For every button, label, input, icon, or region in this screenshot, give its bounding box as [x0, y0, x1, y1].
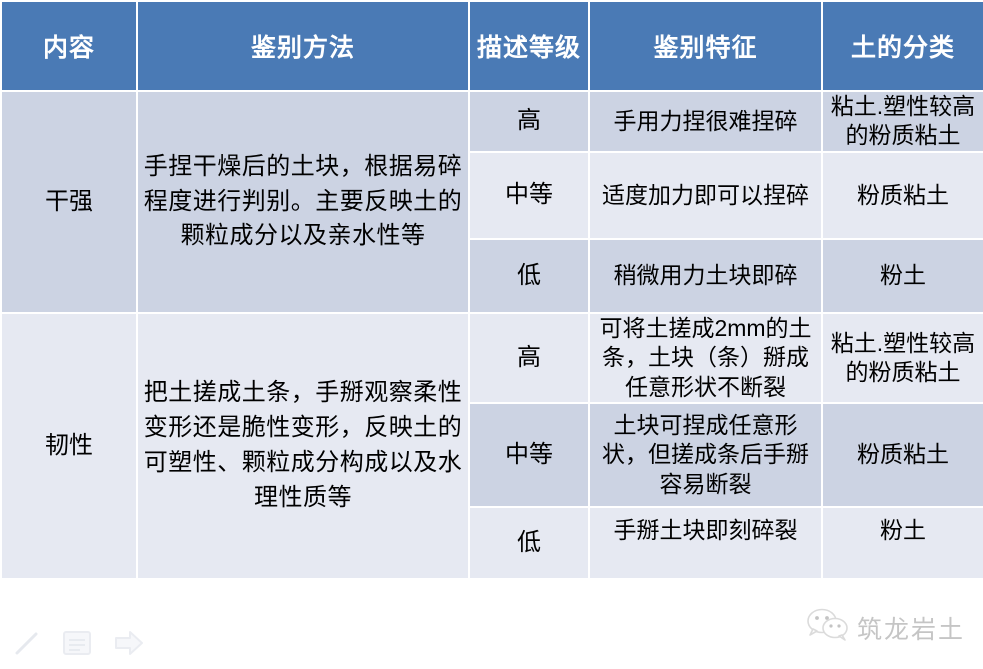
cell-feature-text: 可将土搓成2mm的土条，土块（条）掰成任意形状不断裂: [599, 315, 811, 400]
cell-feature: 稍微用力土块即碎: [589, 239, 822, 313]
header-cell-feature: 鉴别特征: [589, 1, 822, 91]
cell-level: 高: [469, 91, 589, 152]
cell-classify: 粉土: [822, 239, 983, 313]
table-header: 内容 鉴别方法 描述等级 鉴别特征 土的分类: [1, 1, 983, 91]
cell-feature: 适度加力即可以捏碎: [589, 152, 822, 239]
header-row: 内容 鉴别方法 描述等级 鉴别特征 土的分类: [1, 1, 983, 91]
tool-icons-watermark: [14, 630, 144, 661]
cell-feature: 可将土搓成2mm的土条，土块（条）掰成任意形状不断裂: [589, 313, 822, 403]
cell-method-section2: 把土搓成土条，手掰观察柔性变形还是脆性变形，反映土的可塑性、颗粒成分构成以及水理…: [137, 313, 469, 579]
cell-level: 高: [469, 313, 589, 403]
soil-identification-table: 内容 鉴别方法 描述等级 鉴别特征 土的分类 干强 手捏干燥后的土块，根据易碎程…: [0, 0, 983, 580]
header-cell-classify: 土的分类: [822, 1, 983, 91]
header-cell-method: 鉴别方法: [137, 1, 469, 91]
footer-strip: [0, 660, 983, 669]
wechat-watermark: 筑龙岩土: [806, 608, 965, 647]
cell-feature: 手掰土块即刻碎裂: [589, 507, 822, 579]
header-cell-content: 内容: [1, 1, 137, 91]
cell-level: 低: [469, 239, 589, 313]
wechat-account-name: 筑龙岩土: [857, 610, 965, 646]
cell-content-section1: 干强: [1, 91, 137, 313]
table-row: 干强 手捏干燥后的土块，根据易碎程度进行判别。主要反映土的颗粒成分以及亲水性等 …: [1, 91, 983, 152]
cell-classify: 粘土.塑性较高的粉质粘土: [822, 91, 983, 152]
table-body: 干强 手捏干燥后的土块，根据易碎程度进行判别。主要反映土的颗粒成分以及亲水性等 …: [1, 91, 983, 579]
cell-level: 中等: [469, 152, 589, 239]
document-icon: [62, 630, 92, 661]
cell-method-section1: 手捏干燥后的土块，根据易碎程度进行判别。主要反映土的颗粒成分以及亲水性等: [137, 91, 469, 313]
pencil-icon: [14, 630, 40, 661]
cell-classify: 粉质粘土: [822, 403, 983, 507]
wechat-icon: [806, 608, 850, 647]
cell-classify: 粘土.塑性较高的粉质粘土: [822, 313, 983, 403]
table-row: 韧性 把土搓成土条，手掰观察柔性变形还是脆性变形，反映土的可塑性、颗粒成分构成以…: [1, 313, 983, 403]
cell-content-section2: 韧性: [1, 313, 137, 579]
cell-classify: 粉土: [822, 507, 983, 579]
arrow-right-icon: [114, 630, 144, 661]
header-cell-level: 描述等级: [469, 1, 589, 91]
cell-level: 中等: [469, 403, 589, 507]
cell-feature: 手用力捏很难捏碎: [589, 91, 822, 152]
cell-classify: 粉质粘土: [822, 152, 983, 239]
cell-level: 低: [469, 507, 589, 579]
table-page: 内容 鉴别方法 描述等级 鉴别特征 土的分类 干强 手捏干燥后的土块，根据易碎程…: [0, 0, 983, 669]
cell-feature: 土块可捏成任意形状，但搓成条后手掰容易断裂: [589, 403, 822, 507]
